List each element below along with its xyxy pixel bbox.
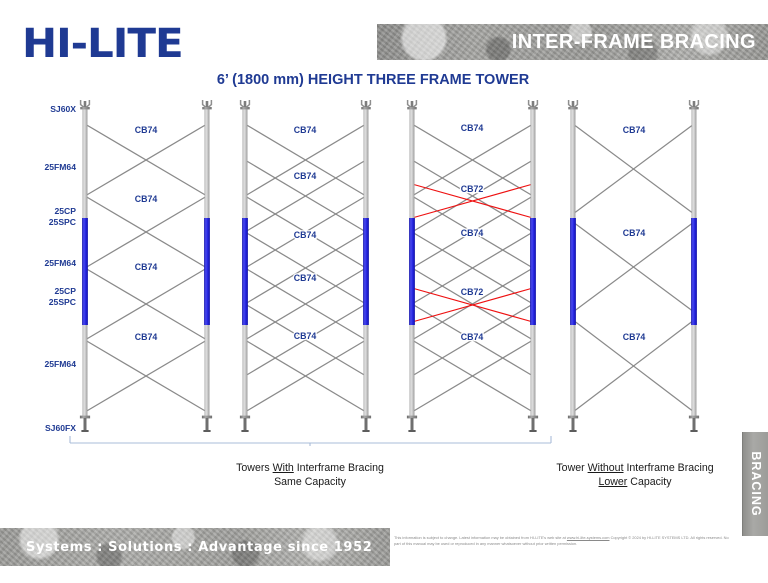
tower-2-right-post-blue-band [363,218,369,325]
tower-4-left-post-top-spigot [572,101,575,108]
tower-4-label-1: CB74 [623,228,646,238]
tower-1-left-post-top-collar [80,107,89,109]
tower-4-left-post-screw-jack [572,418,575,431]
legal-fineprint: This information is subject to change. L… [394,535,734,546]
tower-diagram: CB74CB74CB74CB74CB74CB74CB74CB74CB74CB74… [0,96,768,446]
tower-2-right-post-base-plate [362,430,369,432]
footer-banner: Systems : Solutions : Advantage since 19… [0,528,390,566]
tower-3-label-2: CB74 [461,228,484,238]
tower-3-label-4: CB74 [461,332,484,342]
website-link[interactable]: www.hi-lite-systems.com [567,535,610,540]
tower-1-right-post-base-plate [203,430,210,432]
tower-1-right-post-base-collar [202,416,212,419]
side-tab-bracing[interactable]: BRACING [742,432,768,536]
tower-1-label-1: CB74 [135,194,158,204]
tower-2-label-0: CB74 [294,125,317,135]
caption-with-bracing-line-1: Towers With Interframe Bracing [160,461,460,475]
tower-1-left-post-blue-band [82,218,88,325]
tower-3-left-post-screw-jack [411,418,414,431]
tower-1-left-post-base-collar [80,416,90,419]
fineprint-line-1: This information is subject to change. L… [394,535,567,540]
row-label-line: 25FM64 [14,258,76,269]
row-label-25cp-25spc: 25CP25SPC [14,286,76,307]
tower-3-left-post-blue-band [409,218,415,325]
tower-4-right-post-base-collar [689,416,699,419]
tower-4-right-post-blue-band [691,218,697,325]
tower-4-label-2: CB74 [623,332,646,342]
tower-1-label-3: CB74 [135,332,158,342]
company-logo: HI-LITE [22,21,183,67]
row-label-25fm64: 25FM64 [14,162,76,173]
row-label-line: 25CP [14,286,76,297]
tower-2-right-post-screw-jack [365,418,368,431]
tower-1-left-post-screw-jack [84,418,87,431]
row-label-line: 25CP [14,206,76,217]
tower-1-right-post-top-spigot [206,101,209,108]
tower-2-left-post-base-collar [240,416,250,419]
tower-2-label-1: CB74 [294,171,317,181]
page-title: 6’ (1800 mm) HEIGHT THREE FRAME TOWER [0,72,768,88]
caption-without-bracing: Tower Without Interframe BracingLower Ca… [515,461,755,489]
row-label-25fm64: 25FM64 [14,258,76,269]
tower-2-right-post-base-collar [361,416,371,419]
header-banner: INTER-FRAME BRACING [377,24,768,60]
diagram-canvas: CB74CB74CB74CB74CB74CB74CB74CB74CB74CB74… [0,96,768,446]
tower-1-right-post-top-collar [202,107,211,109]
tower-4-left-post-blue-band [570,218,576,325]
tower-3-right-post-screw-jack [532,418,535,431]
tower-3-left-post-top-spigot [411,101,414,108]
tower-3-label-0: CB74 [461,123,484,133]
row-label-line: 25FM64 [14,359,76,370]
tower-2-left-post-screw-jack [244,418,247,431]
row-label-line: 25FM64 [14,162,76,173]
tower-1-right-post-screw-jack [206,418,209,431]
tower-2-left-post-top-spigot [244,101,247,108]
tower-2-right-post-top-spigot [365,101,368,108]
tower-3-left-post-base-collar [407,416,417,419]
tower-4-label-0: CB74 [623,125,646,135]
tower-3-right-post-top-spigot [532,101,535,108]
caption-with-bracing-line-2: Same Capacity [160,475,460,489]
tower-1-label-2: CB74 [135,262,158,272]
row-label-line: SJ60FX [14,423,76,434]
tower-3-right-post-blue-band [530,218,536,325]
row-label-25cp-25spc: 25CP25SPC [14,206,76,227]
row-label-line: SJ60X [14,104,76,115]
tower-2-left-post-top-collar [240,107,249,109]
row-label-25fm64: 25FM64 [14,359,76,370]
tower-4-left-post-base-collar [568,416,578,419]
tower-2-left-post-blue-band [242,218,248,325]
tower-2-right-post-top-collar [361,107,370,109]
tower-2-left-post-base-plate [241,430,248,432]
caption-with-bracing: Towers With Interframe BracingSame Capac… [160,461,460,489]
page-title-text: 6’ (1800 mm) HEIGHT THREE FRAME TOWER [217,72,529,88]
row-label-line: 25SPC [14,217,76,228]
tower-3-right-post-base-collar [528,416,538,419]
tower-4-right-post-top-collar [689,107,698,109]
tower-1-right-post-blue-band [204,218,210,325]
side-tab-label: BRACING [749,451,763,516]
tower-1-left-post-base-plate [81,430,88,432]
row-label-sj60x: SJ60X [14,104,76,115]
tower-3-label-1: CB72 [461,184,484,194]
footer-tagline: Systems : Solutions : Advantage since 19… [0,540,372,555]
tower-1-label-0: CB74 [135,125,158,135]
tower-1-left-post-top-spigot [84,101,87,108]
tower-3-label-3: CB72 [461,287,484,297]
header-title: INTER-FRAME BRACING [512,31,768,54]
tower-3-right-post-top-collar [528,107,537,109]
tower-3-right-post-base-plate [529,430,536,432]
tower-4-left-post-top-collar [568,107,577,109]
tower-2-label-2: CB74 [294,230,317,240]
tower-4-right-post-screw-jack [693,418,696,431]
caption-without-bracing-line-2: Lower Capacity [515,475,755,489]
tower-2-label-4: CB74 [294,331,317,341]
row-label-sj60fx: SJ60FX [14,423,76,434]
tower-4-right-post-base-plate [690,430,697,432]
tower-3-left-post-base-plate [408,430,415,432]
tower-2-label-3: CB74 [294,273,317,283]
row-label-line: 25SPC [14,297,76,308]
tower-3-left-post-top-collar [407,107,416,109]
tower-4-right-post-top-spigot [693,101,696,108]
tower-4-left-post-base-plate [569,430,576,432]
caption-without-bracing-line-1: Tower Without Interframe Bracing [515,461,755,475]
